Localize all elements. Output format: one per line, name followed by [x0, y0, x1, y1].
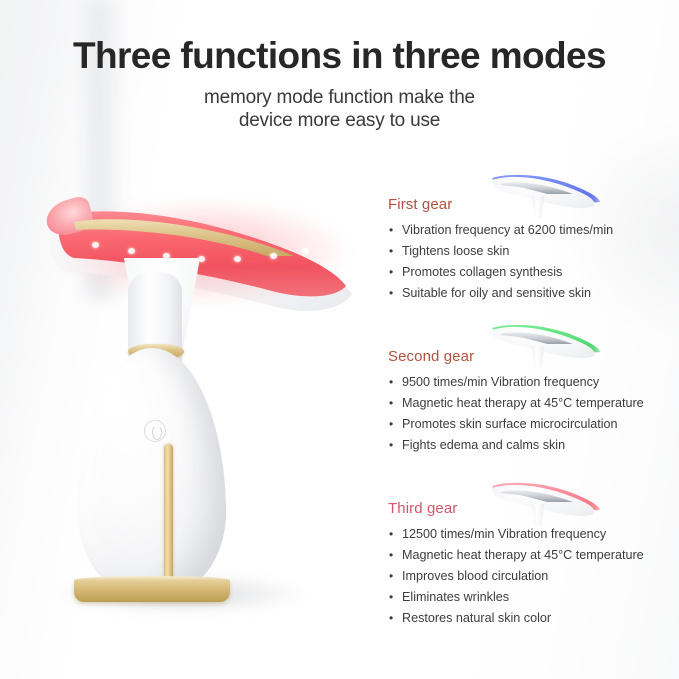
list-item: 9500 times/min Vibration frequency — [388, 372, 679, 393]
list-item: Magnetic heat therapy at 45°C temperatur… — [388, 393, 679, 414]
list-item: Fights edema and calms skin — [388, 435, 679, 456]
list-item: Magnetic heat therapy at 45°C temperatur… — [388, 545, 679, 566]
subtitle-line-1: memory mode function make the — [0, 86, 679, 110]
gear-section-second: Second gear 9500 times/min Vibration fre… — [388, 348, 679, 456]
list-item: Eliminates wrinkles — [388, 587, 679, 608]
list-item: Promotes collagen synthesis — [388, 262, 679, 283]
list-item: Restores natural skin color — [388, 608, 679, 629]
page-title: Three functions in three modes — [0, 36, 679, 77]
product-gold-stripe — [164, 444, 173, 594]
header: Three functions in three modes memory mo… — [0, 36, 679, 133]
gear-section-third: Third gear 12500 times/min Vibration fre… — [388, 500, 679, 629]
gear-section-first: First gear Vibration frequency at 6200 t… — [388, 196, 679, 304]
product-led-dots — [88, 234, 328, 272]
list-item: 12500 times/min Vibration frequency — [388, 524, 679, 545]
product-body-highlight — [100, 366, 126, 486]
gear-title-third: Third gear — [388, 500, 679, 517]
list-item: Promotes skin surface microcirculation — [388, 414, 679, 435]
list-item: Suitable for oily and sensitive skin — [388, 283, 679, 304]
gear-bullets-first: Vibration frequency at 6200 times/min Ti… — [388, 220, 679, 304]
list-item: Tightens loose skin — [388, 241, 679, 262]
product-image — [36, 176, 376, 646]
gear-bullets-third: 12500 times/min Vibration frequency Magn… — [388, 524, 679, 629]
product-gold-base — [74, 580, 230, 602]
gear-title-first: First gear — [388, 196, 679, 213]
infographic-canvas: Three functions in three modes memory mo… — [0, 0, 679, 679]
product-body — [78, 348, 226, 598]
gear-title-second: Second gear — [388, 348, 679, 365]
subtitle-line-2: device more easy to use — [0, 109, 679, 133]
gear-bullets-second: 9500 times/min Vibration frequency Magne… — [388, 372, 679, 456]
product-head — [36, 176, 376, 356]
list-item: Vibration frequency at 6200 times/min — [388, 220, 679, 241]
power-button-icon[interactable] — [144, 420, 166, 442]
list-item: Improves blood circulation — [388, 566, 679, 587]
